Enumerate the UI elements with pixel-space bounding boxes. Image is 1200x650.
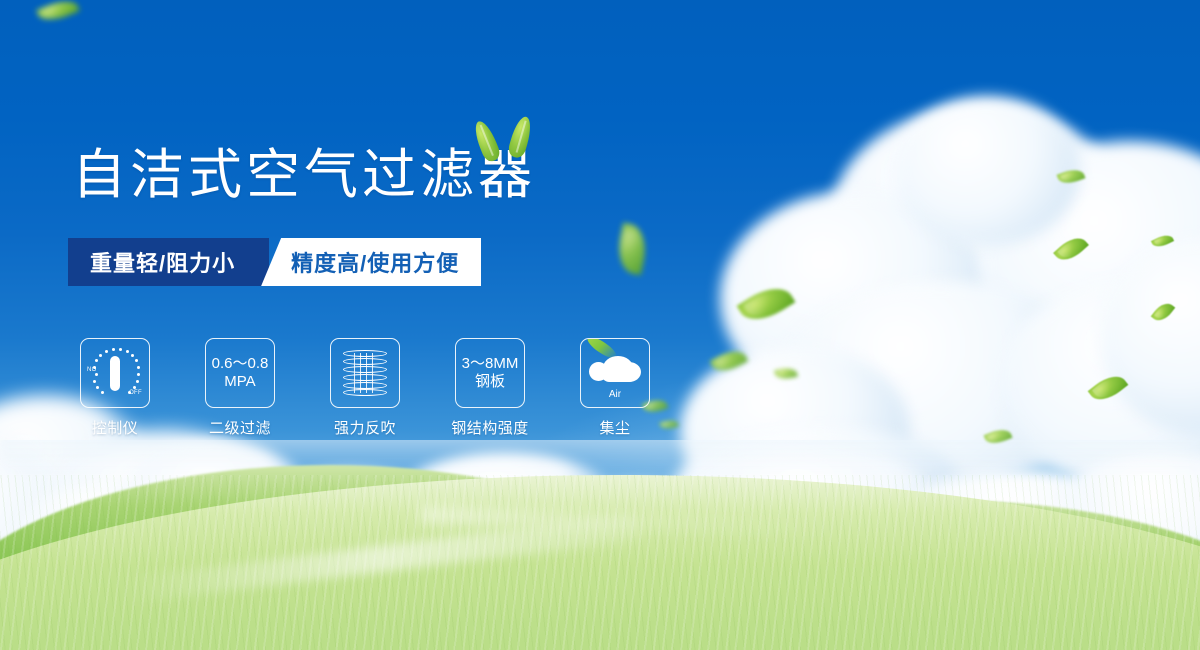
gauge-needle (110, 356, 120, 391)
feature-icon-box: 0.6～0.8 MPA (205, 338, 275, 408)
sprout-leaves-icon (476, 112, 538, 164)
sprout-leaf-left-icon (471, 118, 502, 163)
feature-label: 集尘 (599, 417, 630, 438)
subtitle-bar: 重量轻/阻力小 精度高/使用方便 (68, 238, 481, 286)
feature-icon-box (330, 338, 400, 408)
feature-label: 强力反吹 (334, 417, 396, 438)
grass-texture (0, 475, 1200, 650)
product-banner: 自洁式空气过滤器 重量轻/阻力小 精度高/使用方便 (0, 0, 1200, 650)
feature-item-steel[interactable]: 3～8MM 钢板 钢结构强度 (455, 338, 525, 438)
gauge-no-label: NO (87, 367, 97, 373)
sprout-leaf-right-icon (507, 114, 535, 159)
feature-label: 控制仪 (92, 417, 139, 438)
cloud-hole (593, 366, 601, 374)
hill-front (0, 475, 1200, 650)
filter-coil-icon (343, 350, 387, 396)
steel-value-line2: 钢板 (475, 373, 505, 391)
feature-item-pressure[interactable]: 0.6～0.8 MPA 二级过滤 (205, 338, 275, 438)
feature-item-control[interactable]: NO OFF 控制仪 (80, 338, 150, 438)
subtitle-right: 精度高/使用方便 (261, 238, 481, 286)
feature-icon-box: Air (580, 338, 650, 408)
grass-field (0, 440, 1200, 650)
air-label: Air (587, 389, 643, 400)
page-title: 自洁式空气过滤器 (72, 148, 536, 202)
feature-label: 钢结构强度 (451, 417, 529, 438)
feature-list: NO OFF 控制仪 0.6～0.8 MPA 二级过滤 (80, 338, 650, 438)
feature-item-blowback[interactable]: 强力反吹 (330, 338, 400, 438)
pressure-value-line2: MPA (224, 373, 255, 391)
steel-value-line1: 3～8MM (462, 355, 519, 373)
horizon-haze (0, 440, 1200, 475)
subtitle-left: 重量轻/阻力小 (68, 238, 269, 286)
feature-item-dust[interactable]: Air 集尘 (580, 338, 650, 438)
feature-label: 二级过滤 (209, 417, 271, 438)
pressure-value-line1: 0.6～0.8 (212, 355, 269, 373)
gauge-off-label: OFF (129, 390, 142, 396)
gauge-icon: NO OFF (87, 347, 143, 399)
feature-icon-box: 3～8MM 钢板 (455, 338, 525, 408)
air-cloud-icon: Air (587, 350, 643, 396)
feature-icon-box: NO OFF (80, 338, 150, 408)
